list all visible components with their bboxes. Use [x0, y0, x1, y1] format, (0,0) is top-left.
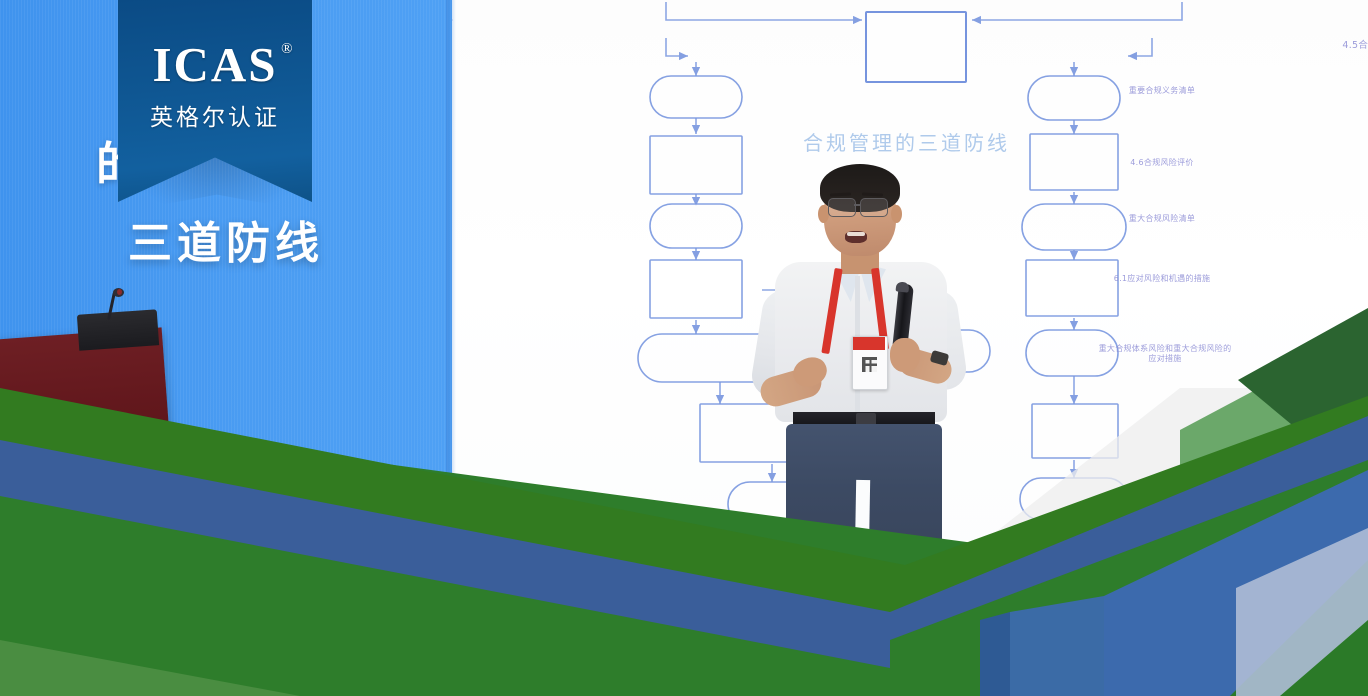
registered-trademark-icon: ®	[281, 42, 292, 57]
wall-headline-main: 三道防线	[128, 207, 448, 271]
icas-wordmark-text: ICAS	[152, 37, 277, 92]
icas-chinese-name: 英格尔认证	[150, 98, 280, 132]
screenshot-stage: 4.5合规义务 重要合规义务清单 4.6合规风险评价 重大合规风险清单 6.1应…	[0, 0, 1368, 696]
icas-wordmark: ICAS®	[152, 40, 277, 89]
